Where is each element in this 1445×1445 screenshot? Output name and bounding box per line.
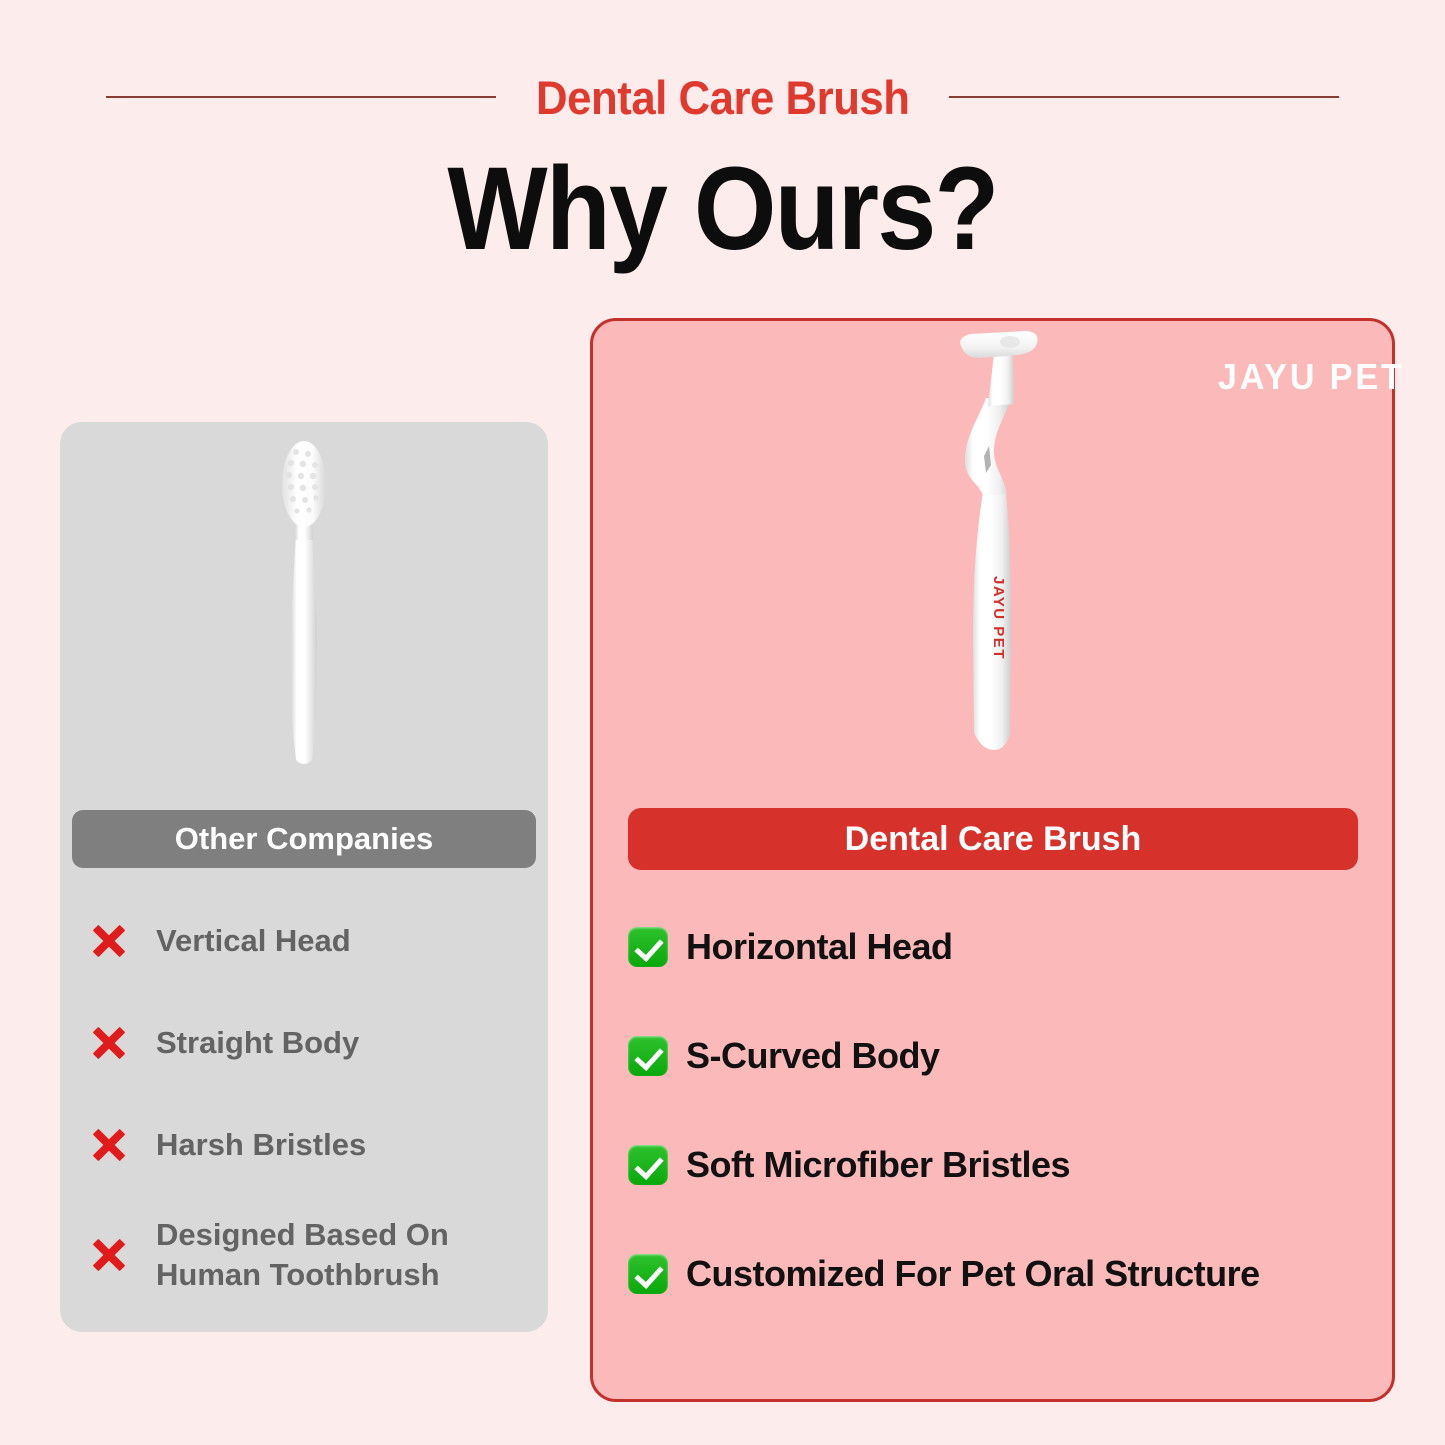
list-item: Harsh Bristles: [60, 1094, 548, 1196]
check-icon: [628, 1145, 668, 1185]
eyebrow-rule-left: [106, 96, 496, 98]
eyebrow-header: Dental Care Brush: [0, 62, 1445, 132]
list-item-label: Straight Body: [156, 1023, 359, 1063]
other-companies-feature-list: Vertical Head Straight Body Harsh Bristl…: [60, 890, 548, 1314]
other-companies-pill-label: Other Companies: [175, 821, 433, 857]
check-icon: [628, 1254, 668, 1294]
list-item: Designed Based On Human Toothbrush: [60, 1196, 548, 1314]
list-item: Straight Body: [60, 992, 548, 1094]
list-item-label: Harsh Bristles: [156, 1125, 366, 1165]
dental-care-brush-feature-list: Horizontal Head S-Curved Body Soft Micro…: [628, 892, 1388, 1328]
brand-logo: JAYU PET: [1218, 356, 1405, 398]
other-companies-pill: Other Companies: [72, 810, 536, 868]
list-item: Soft Microfiber Bristles: [628, 1110, 1388, 1219]
list-item-label: Vertical Head: [156, 921, 351, 961]
other-companies-card: Other Companies Vertical Head Straight B…: [60, 422, 548, 1332]
list-item-label: Horizontal Head: [686, 926, 953, 968]
page-title: Why Ours?: [72, 148, 1373, 272]
check-icon: [628, 1036, 668, 1076]
dental-care-brush-pill: Dental Care Brush: [628, 808, 1358, 870]
cross-icon: [88, 1234, 130, 1276]
list-item-label: Customized For Pet Oral Structure: [686, 1253, 1260, 1295]
eyebrow-rule-right: [949, 96, 1339, 98]
generic-toothbrush-image: [60, 422, 548, 794]
list-item: Vertical Head: [60, 890, 548, 992]
list-item: Horizontal Head: [628, 892, 1388, 1001]
list-item-label: Designed Based On Human Toothbrush: [156, 1215, 449, 1294]
list-item-label: S-Curved Body: [686, 1035, 940, 1077]
cross-icon: [88, 1124, 130, 1166]
check-icon: [628, 927, 668, 967]
eyebrow-title: Dental Care Brush: [536, 70, 909, 125]
list-item: Customized For Pet Oral Structure: [628, 1219, 1388, 1328]
cross-icon: [88, 920, 130, 962]
cross-icon: [88, 1022, 130, 1064]
dental-care-brush-pill-label: Dental Care Brush: [845, 820, 1142, 859]
list-item-label: Soft Microfiber Bristles: [686, 1144, 1070, 1186]
list-item: S-Curved Body: [628, 1001, 1388, 1110]
